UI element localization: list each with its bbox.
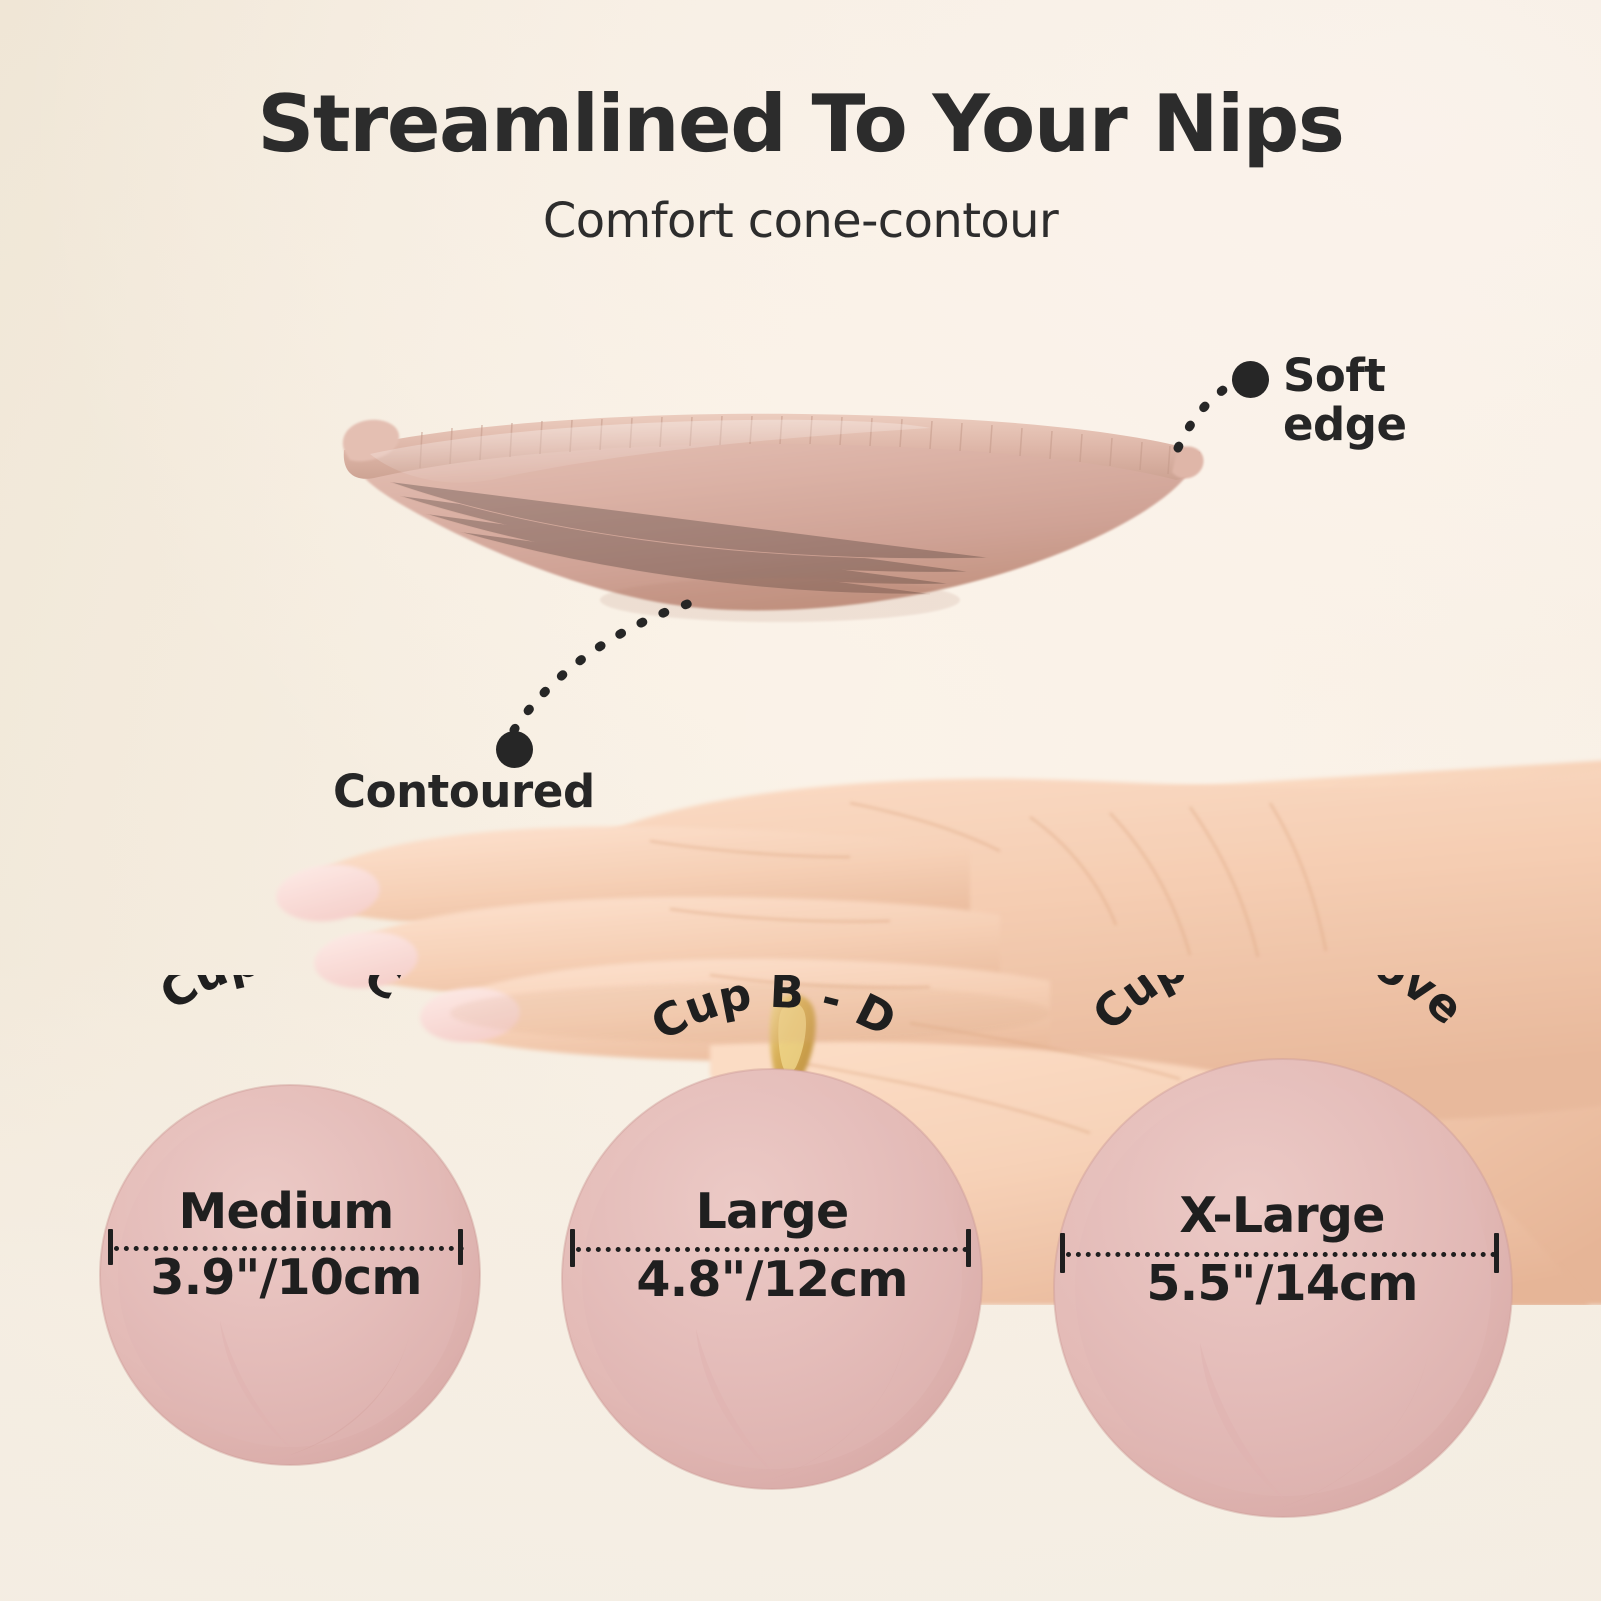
header-block: Streamlined To Your Nips Comfort cone-co… xyxy=(0,84,1601,249)
soft-edge-dot-icon xyxy=(1232,361,1269,398)
svg-text:Cup D & above: Cup D & above xyxy=(1082,975,1474,1041)
callout-label-contoured: Contoured xyxy=(333,768,595,817)
page-subtitle: Comfort cone-contour xyxy=(0,193,1601,249)
size-dimension-xlarge: 5.5"/14cm xyxy=(1042,1259,1522,1310)
callout-label-soft-edge: Soft edge xyxy=(1283,352,1406,449)
size-dimension-medium: 3.9"/10cm xyxy=(86,1253,486,1304)
cup-range-text-medium: Cup A - C xyxy=(151,975,410,1021)
soft-edge-line1: Soft xyxy=(1283,352,1406,401)
contoured-dot-icon xyxy=(496,731,533,768)
cup-range-text-large: Cup B - D xyxy=(642,975,904,1051)
size-name-large: Large xyxy=(552,1187,992,1238)
page-title: Streamlined To Your Nips xyxy=(0,84,1601,165)
size-name-medium: Medium xyxy=(86,1187,486,1238)
size-name-xlarge: X-Large xyxy=(1042,1191,1522,1242)
infographic-canvas: Streamlined To Your Nips Comfort cone-co… xyxy=(0,0,1601,1601)
svg-text:Cup A - C: Cup A - C xyxy=(151,975,410,1021)
svg-text:Cup B - D: Cup B - D xyxy=(642,975,904,1051)
cup-range-text-xlarge: Cup D & above xyxy=(1082,975,1474,1041)
soft-edge-line2: edge xyxy=(1283,401,1406,450)
size-dimension-large: 4.8"/12cm xyxy=(552,1255,992,1306)
size-comparison-row: Cup A - C xyxy=(0,975,1601,1535)
